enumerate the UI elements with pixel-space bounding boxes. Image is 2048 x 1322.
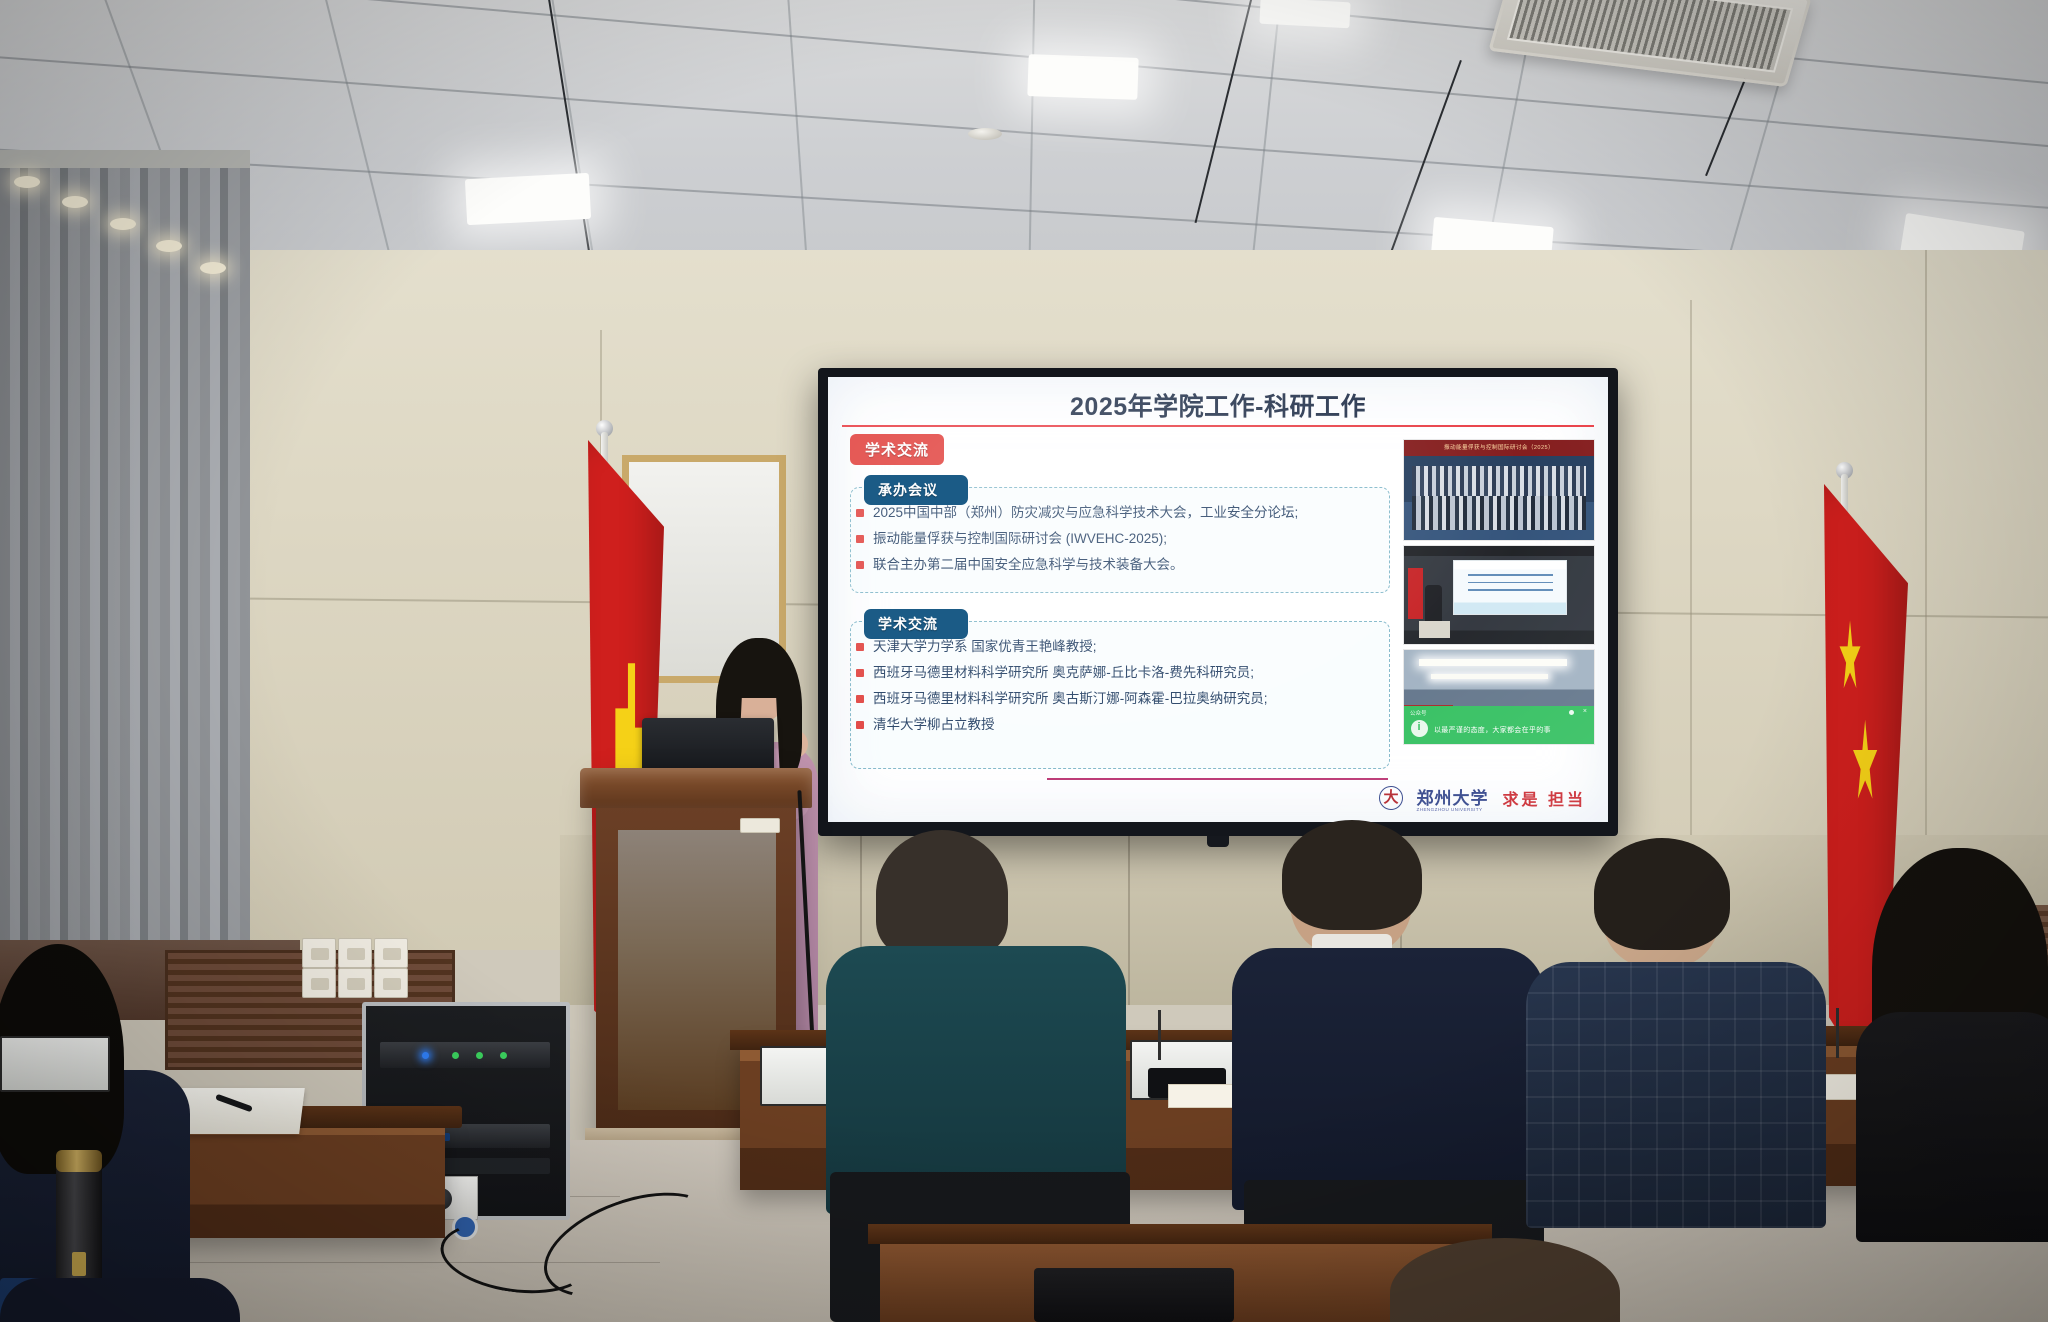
photo-ceiling-light [1419,659,1567,666]
person-hair [1282,820,1422,930]
university-logo-block: 郑州大学 ZHENGZHOU UNIVERSITY 求是 担当 [1379,784,1586,812]
bullet-text: 西班牙马德里材料科学研究所 奥克萨娜-丘比卡洛-费先科研究员; [873,665,1254,682]
photo-flag [1408,568,1423,619]
status-led-icon [452,1052,459,1059]
section-badge-1: 承办会议 [864,475,968,505]
slide-photo-hall: 公众号 × 以最严谨的态度，大家都会在乎的事 [1403,649,1595,745]
university-name: 郑州大学 [1417,789,1489,808]
bullet-marker-icon [856,721,864,729]
university-motto: 求是 担当 [1503,786,1586,810]
status-led-icon [500,1052,507,1059]
ceiling-light-panel [1259,0,1350,28]
bullet-item: 天津大学力学系 国家优青王艳峰教授; [856,639,1386,656]
slide-photo-column: 振动能量俘获与控制国际研讨会（2025） [1403,439,1595,749]
presentation-slide: 2025年学院工作-科研工作 学术交流 承办会议 2025中国中部（郑州）防灾减… [828,377,1608,822]
cove-light [62,196,88,208]
wechat-close-icon: × [1583,708,1587,715]
section-badge-2: 学术交流 [864,609,968,639]
photo-inner-slide [1453,560,1567,615]
desk-microphone[interactable] [1158,1010,1161,1060]
projection-screen: 2025年学院工作-科研工作 学术交流 承办会议 2025中国中部（郑州）防灾减… [818,368,1618,836]
power-led-icon [422,1052,429,1059]
thermos-cap [56,1150,102,1172]
slide-photo-group: 振动能量俘获与控制国际研讨会（2025） [1403,439,1595,541]
thermos-emblem-icon [72,1252,86,1276]
bullet-marker-icon [856,561,864,569]
podium-nameplate [740,818,780,833]
slide-footer: 郑州大学 ZHENGZHOU UNIVERSITY 求是 担当 [842,780,1594,814]
desk-monitor[interactable] [0,1036,110,1092]
wechat-app-label: 公众号 [1410,709,1427,717]
bullet-item: 振动能量俘获与控制国际研讨会 (IWVEHC-2025); [856,531,1386,548]
power-outlet[interactable] [338,938,372,968]
flag-star [1853,720,1878,807]
bullet-marker-icon [856,509,864,517]
power-outlet[interactable] [338,968,372,998]
title-divider [842,425,1594,427]
power-outlet[interactable] [302,968,336,998]
bullet-text: 2025中国中部（郑州）防灾减灾与应急科学技术大会，工业安全分论坛; [873,505,1298,522]
flag-star [1839,620,1861,694]
bullet-text: 天津大学力学系 国家优青王艳峰教授; [873,639,1097,656]
photo-ceiling-light [1431,674,1549,679]
person-hair [1594,838,1730,950]
ceiling-light-panel [1027,54,1138,100]
bullet-item: 清华大学柳占立教授 [856,717,1386,734]
conference-room-photo: 2025年学院工作-科研工作 学术交流 承办会议 2025中国中部（郑州）防灾减… [0,0,2048,1322]
bullet-item: 西班牙马德里材料科学研究所 奥古斯汀娜-阿森霍-巴拉奥纳研究员; [856,691,1386,708]
slide-photo-lecture [1403,545,1595,645]
wechat-message: 以最严谨的态度，大家都会在乎的事 [1434,725,1551,735]
person-shoulder [0,1278,240,1322]
smoke-detector-icon [968,128,1002,140]
bullet-marker-icon [856,669,864,677]
person-torso [1526,962,1826,1228]
window-curtains[interactable] [0,150,250,980]
photo-caption: 振动能量俘获与控制国际研讨会（2025） [1404,443,1594,451]
power-outlet[interactable] [374,938,408,968]
section-bullets-2: 天津大学力学系 国家优青王艳峰教授; 西班牙马德里材料科学研究所 奥克萨娜-丘比… [856,639,1386,743]
status-led-icon [476,1052,483,1059]
bullet-marker-icon [856,643,864,651]
cove-light [14,176,40,188]
person-torso [1856,1012,2048,1242]
wall-seam [1925,250,1927,850]
person-hair [876,830,1008,958]
power-outlet[interactable] [374,968,408,998]
podium-top [580,768,812,808]
bullet-text: 联合主办第二届中国安全应急科学与技术装备大会。 [873,557,1184,574]
curtain-rod [0,150,250,168]
cove-light [110,218,136,230]
footer-divider [1047,778,1388,780]
foreground-document [1034,1268,1234,1322]
university-seal-icon [1379,786,1403,810]
photo-speaker [1425,585,1442,624]
cove-light [200,262,226,274]
bullet-marker-icon [856,535,864,543]
university-name-en: ZHENGZHOU UNIVERSITY [1417,807,1489,812]
section-bullets-1: 2025中国中部（郑州）防灾减灾与应急科学技术大会，工业安全分论坛; 振动能量俘… [856,505,1386,583]
wechat-more-icon [1569,710,1574,715]
wall-seam [1128,835,1130,1005]
bullet-item: 联合主办第二届中国安全应急科学与技术装备大会。 [856,557,1386,574]
cove-light [156,240,182,252]
foreground-desk-top [868,1224,1492,1244]
presenter-laptop[interactable] [642,718,774,774]
wechat-card: 公众号 × 以最严谨的态度，大家都会在乎的事 [1404,706,1594,745]
photo-podium [1419,621,1449,639]
power-outlet[interactable] [302,938,336,968]
wechat-avatar-icon [1411,720,1428,737]
person-torso [1232,948,1544,1210]
bullet-item: 2025中国中部（郑州）防灾减灾与应急科学技术大会，工业安全分论坛; [856,505,1386,522]
ceiling-light-panel [465,173,591,225]
slide-red-badge: 学术交流 [850,434,944,465]
bullet-marker-icon [856,695,864,703]
wall-seam [1690,300,1692,860]
rack-amplifier[interactable] [380,1042,550,1068]
slide-title: 2025年学院工作-科研工作 [828,387,1608,423]
bullet-text: 西班牙马德里材料科学研究所 奥古斯汀娜-阿森霍-巴拉奥纳研究员; [873,691,1268,708]
bullet-item: 西班牙马德里材料科学研究所 奥克萨娜-丘比卡洛-费先科研究员; [856,665,1386,682]
bullet-text: 清华大学柳占立教授 [873,717,995,734]
bullet-text: 振动能量俘获与控制国际研讨会 (IWVEHC-2025); [873,531,1167,548]
photo-crowd [1412,496,1587,530]
desk-microphone[interactable] [1836,1008,1839,1058]
